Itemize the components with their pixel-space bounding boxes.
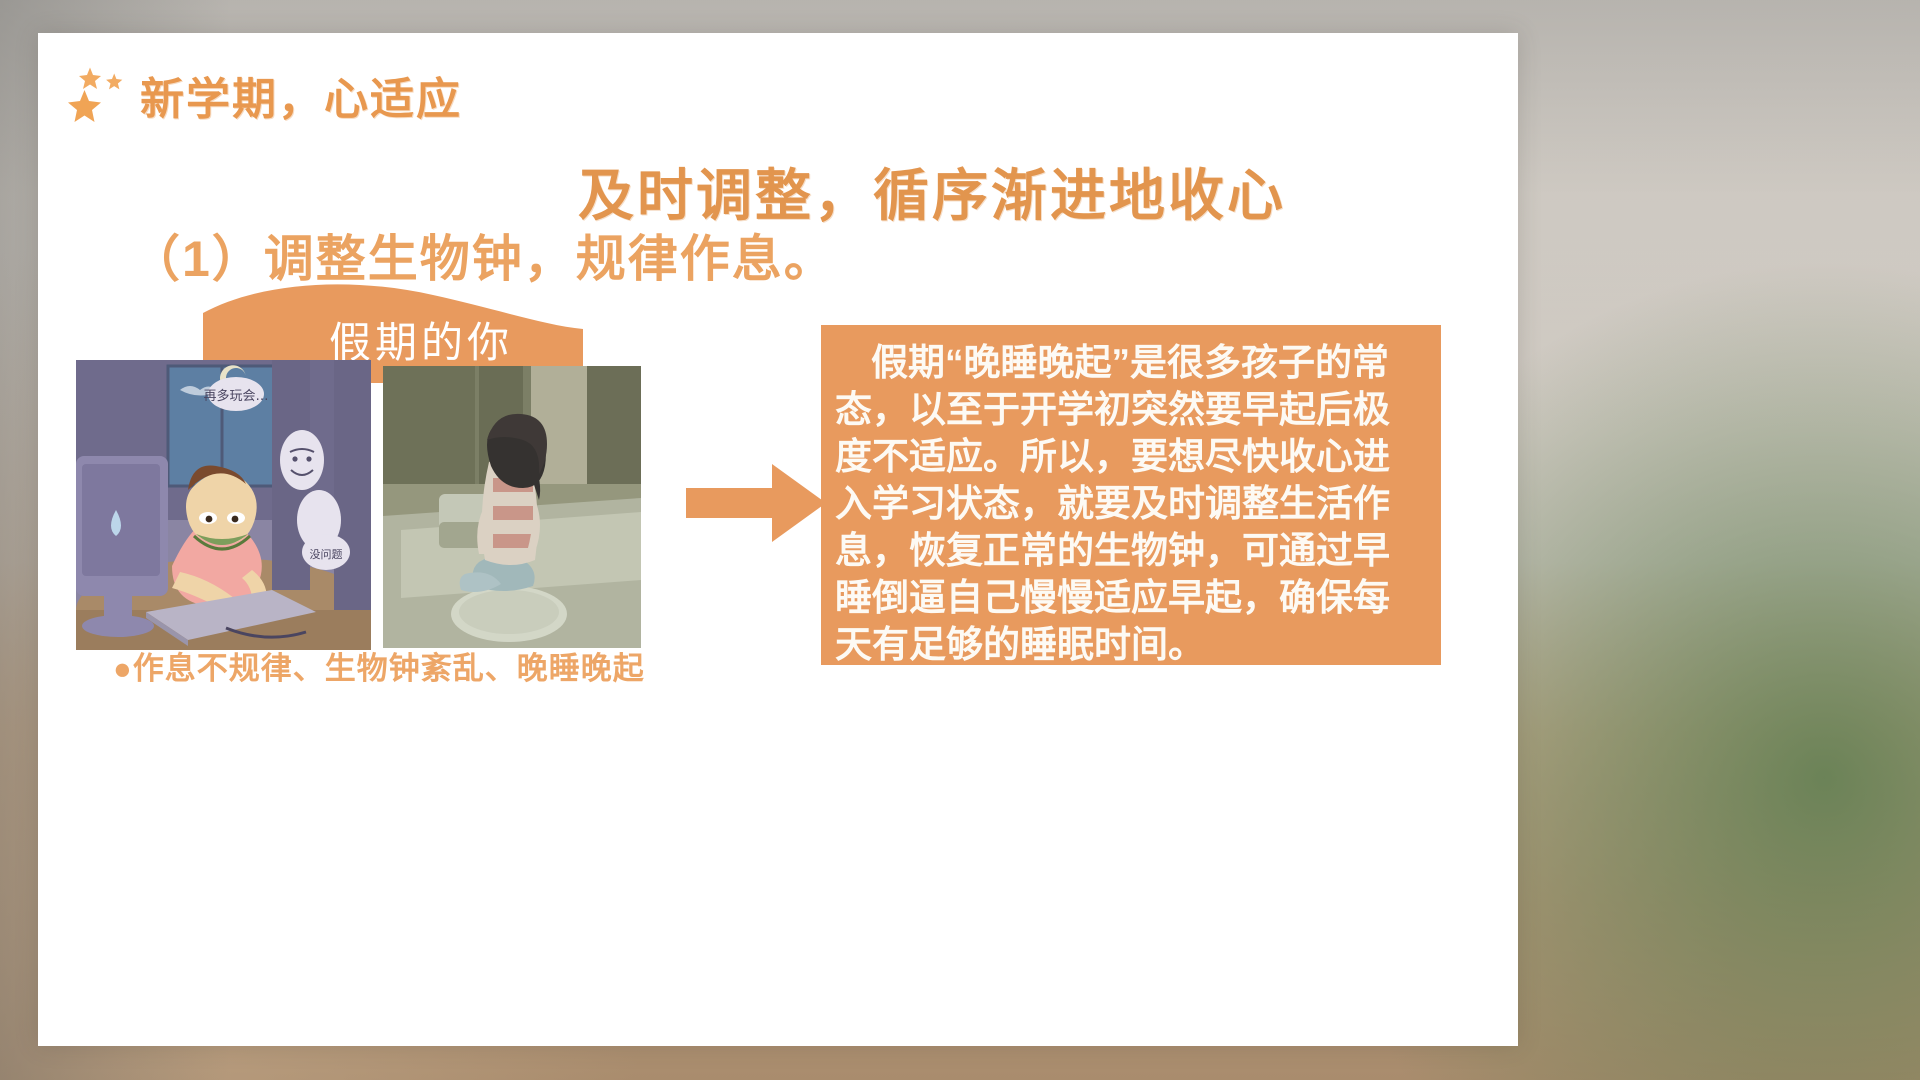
callout-text: 假期“晚睡晚起”是很多孩子的常态，以至于开学初突然要早起后极度不适应。所以，要想… [835, 339, 1425, 668]
stars-icon [66, 65, 128, 125]
slide-card: 新学期，心适应 及时调整，循序渐进地收心 （1）调整生物钟，规律作息。 假期的你… [38, 33, 1518, 1046]
section-subtitle: （1）调整生物钟，规律作息。 [130, 219, 836, 291]
svg-text:没问题: 没问题 [310, 548, 343, 561]
svg-text:再多玩会…: 再多玩会… [203, 388, 268, 404]
girl-on-bed-illustration [383, 366, 641, 648]
image-boy-at-computer: 再多玩会… 没问题 [76, 360, 371, 650]
boy-at-computer-illustration: 再多玩会… 没问题 [76, 360, 371, 650]
slide-kicker-title: 新学期，心适应 [140, 63, 462, 127]
callout-box: 假期“晚睡晚起”是很多孩子的常态，以至于开学初突然要早起后极度不适应。所以，要想… [821, 325, 1441, 665]
slide-header: 新学期，心适应 [66, 63, 462, 127]
image-girl-sitting-on-bed [383, 366, 641, 648]
image-caption: ●作息不规律、生物钟紊乱、晚睡晚起 [113, 643, 645, 688]
right-arrow-icon [686, 458, 826, 548]
